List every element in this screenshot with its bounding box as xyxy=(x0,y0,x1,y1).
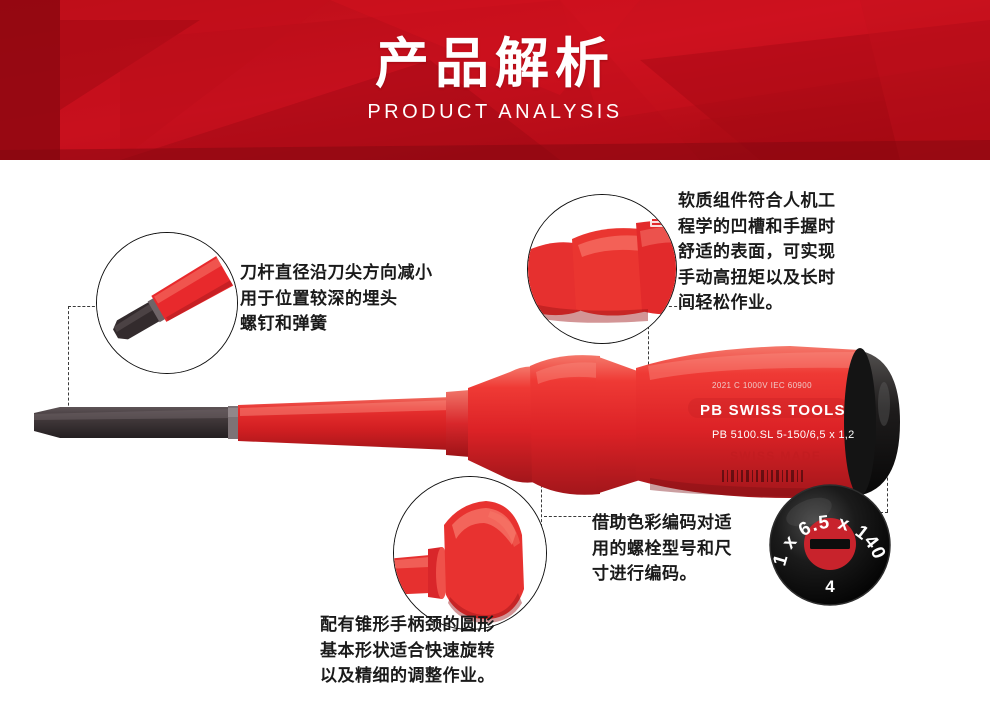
callout-color-code: 借助色彩编码对适 用的螺栓型号和尺 寸进行编码。 xyxy=(592,510,807,587)
page-title: 产品解析 xyxy=(375,36,615,93)
handle-grip-detail xyxy=(394,477,546,629)
callout-blade-tip: 刀杆直径沿刀尖方向减小 用于位置较深的埋头 螺钉和弹簧 xyxy=(240,260,490,337)
callout-soft-grip: 软质组件符合人机工 程学的凹槽和手握时 舒适的表面，可实现 手动高扭矩以及长时 … xyxy=(678,188,903,316)
zoom-circle-handle-neck xyxy=(527,194,677,344)
zoom-circle-blade-tip xyxy=(96,232,238,374)
header-banner: 产品解析 PRODUCT ANALYSIS xyxy=(0,0,990,160)
product-analysis-stage: 2021 C 1000V IEC 60900 PB SWISS TOOLS PB… xyxy=(0,160,990,715)
handle-brand-text: PB SWISS TOOLS xyxy=(700,402,846,419)
handle-origin-text: SWISS MADE xyxy=(730,449,821,463)
endcap-size-number: 4 xyxy=(825,577,835,596)
callout-handle-shape: 配有锥形手柄颈的圆形 基本形状适合快速旋转 以及精细的调整作业。 xyxy=(320,612,570,689)
page-subtitle: PRODUCT ANALYSIS xyxy=(367,101,622,124)
handle-neck-detail xyxy=(528,195,676,343)
zoom-circle-handle-grip xyxy=(393,476,547,630)
blade-tip-detail xyxy=(97,233,237,373)
banner-text-group: 产品解析 PRODUCT ANALYSIS xyxy=(0,0,990,160)
handle-model-text: PB 5100.SL 5-150/6,5 x 1,2 xyxy=(712,429,855,441)
handle-certification-text: 2021 C 1000V IEC 60900 xyxy=(712,381,812,390)
